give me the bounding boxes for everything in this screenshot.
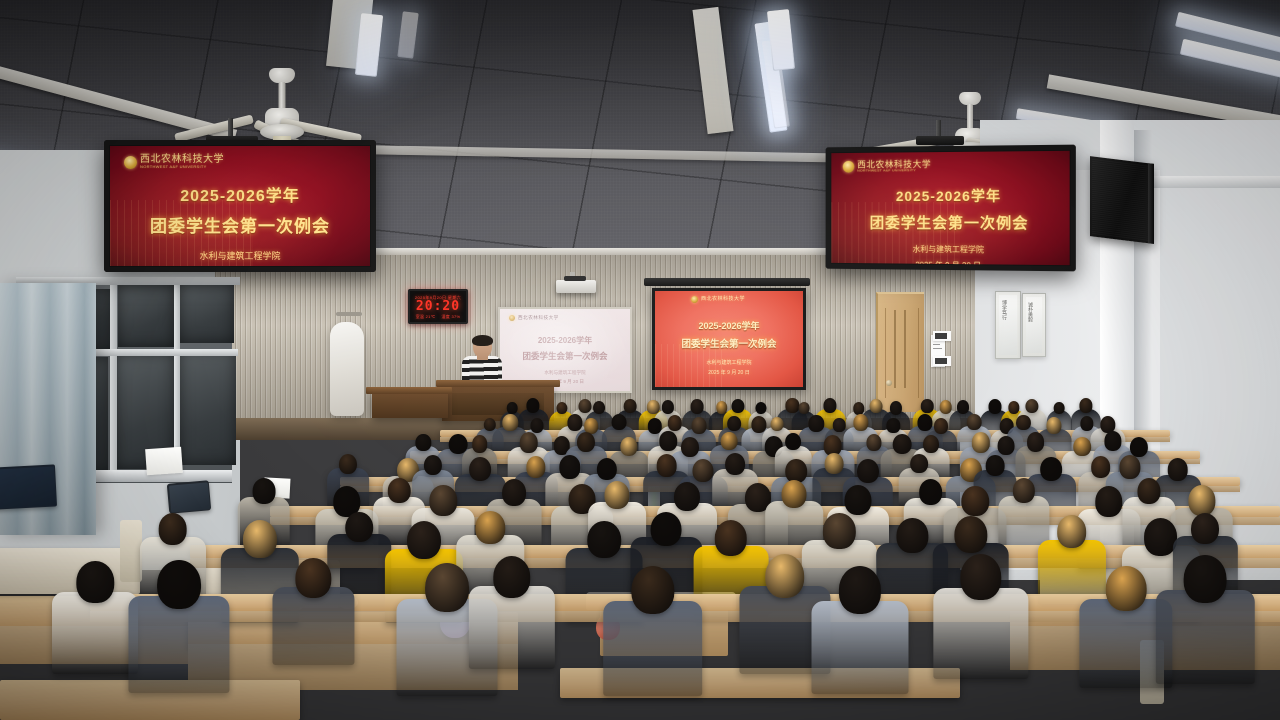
wall-notice-2 bbox=[933, 356, 951, 366]
display-line-college: 水利与建筑工程学院 bbox=[655, 359, 803, 366]
audience-member-head bbox=[823, 513, 855, 549]
audience-member-head bbox=[1025, 399, 1038, 414]
notice-line bbox=[933, 344, 940, 345]
audience-member-head bbox=[934, 418, 948, 434]
audience-member bbox=[273, 558, 354, 671]
audience-member-head bbox=[631, 566, 674, 615]
window-mullion bbox=[174, 283, 180, 471]
ceiling-projector bbox=[556, 280, 596, 293]
audience-member-head bbox=[593, 401, 605, 414]
tv-mount-right bbox=[916, 136, 964, 145]
audience-member-head bbox=[782, 480, 807, 508]
audience-member-head bbox=[252, 478, 275, 504]
right-hanging-display: 西北农林科技大学 NORTHWEST A&F UNIVERSITY 2025-2… bbox=[826, 145, 1076, 272]
window-mullion bbox=[110, 283, 117, 475]
audience-member-head bbox=[1130, 437, 1148, 457]
audience-member-head bbox=[526, 456, 545, 478]
notice-bar bbox=[935, 358, 947, 364]
audience-member-head bbox=[596, 458, 616, 481]
scroll-text: 诚朴勇毅 bbox=[1027, 302, 1032, 322]
fan-canopy bbox=[269, 68, 295, 83]
audience-member-head bbox=[728, 416, 742, 431]
audience-member-torso bbox=[1156, 590, 1254, 684]
audience-member-head bbox=[157, 560, 201, 609]
audience-member-head bbox=[825, 453, 844, 474]
hanging-coat bbox=[330, 322, 364, 416]
scroll-text: 博学笃行 bbox=[1001, 300, 1006, 320]
audience-member-head bbox=[731, 399, 744, 414]
audience-member-head bbox=[243, 520, 277, 558]
led-wall-clock: 2025年9月20日 星期六 20:20 室温 21℃ 湿度 37% bbox=[408, 289, 468, 324]
display-line-meeting-title: 团委学生会第一次例会 bbox=[500, 350, 630, 362]
audience-member-torso bbox=[933, 588, 1028, 679]
audience-member-head bbox=[668, 415, 682, 431]
notice-line bbox=[933, 348, 942, 349]
university-logo: 西北农林科技大学 bbox=[509, 315, 559, 321]
window-pane bbox=[180, 349, 236, 465]
audience-member-head bbox=[587, 521, 621, 559]
window-pane bbox=[118, 285, 174, 347]
audience-member-head bbox=[771, 417, 784, 432]
audience-member-head bbox=[662, 400, 674, 414]
audience-member-head bbox=[556, 402, 567, 415]
university-logo: 西北农林科技大学 bbox=[691, 296, 745, 303]
audience-member-head bbox=[1057, 515, 1087, 548]
audience-member-head bbox=[1074, 437, 1092, 457]
audience-member-head bbox=[693, 459, 714, 483]
audience-member-head bbox=[853, 414, 868, 431]
tablet-device[interactable] bbox=[167, 480, 211, 514]
audience-member-head bbox=[527, 398, 540, 413]
audience-member-head bbox=[911, 454, 929, 474]
audience-member-head bbox=[897, 518, 928, 553]
university-crest-icon bbox=[509, 315, 515, 321]
audience-member-head bbox=[857, 459, 879, 484]
display-bezel bbox=[104, 140, 376, 272]
audience-member-head bbox=[158, 513, 187, 545]
audience-member-torso bbox=[811, 601, 908, 694]
audience-member-torso bbox=[52, 592, 138, 674]
display-line-academic-year: 2025-2026学年 bbox=[500, 335, 630, 346]
audience-member-head bbox=[624, 399, 637, 413]
audience-member-head bbox=[1184, 555, 1227, 603]
audience-member-head bbox=[923, 435, 939, 453]
wall-notice-2 bbox=[933, 331, 951, 341]
audience-member-head bbox=[954, 516, 987, 553]
audience-member-head bbox=[765, 554, 805, 598]
roller-screen-housing bbox=[644, 278, 810, 286]
audience-member-head bbox=[988, 399, 1001, 414]
audience-member-head bbox=[502, 479, 526, 506]
audience-member-head bbox=[674, 482, 700, 511]
paper-sheet bbox=[145, 447, 183, 475]
audience-member-head bbox=[1016, 415, 1030, 431]
wall-scroll-1: 博学笃行 bbox=[995, 291, 1021, 359]
display-line-date: 2025 年 9 月 20 日 bbox=[655, 369, 803, 376]
fan-downrod bbox=[279, 82, 286, 110]
audience-member bbox=[933, 554, 1028, 687]
display-line-college: 水利与建筑工程学院 bbox=[500, 370, 630, 376]
audience-member-torso bbox=[468, 586, 554, 669]
audience-member-head bbox=[957, 400, 969, 413]
audience-member-head bbox=[960, 554, 1001, 600]
audience-member-head bbox=[430, 485, 457, 516]
classroom-door[interactable] bbox=[876, 292, 924, 412]
display-bezel bbox=[826, 145, 1076, 272]
clock-time: 20:20 bbox=[416, 300, 460, 314]
audience-member-head bbox=[476, 511, 505, 544]
audience-member-head bbox=[656, 454, 677, 477]
audience-member-head bbox=[967, 414, 982, 430]
audience-member bbox=[52, 561, 138, 681]
audience-member-head bbox=[1079, 398, 1092, 413]
wall-scroll-2: 诚朴勇毅 bbox=[1022, 293, 1046, 357]
audience-member-head bbox=[559, 455, 580, 479]
display-content: 2025-2026学年 团委学生会第一次例会 水利与建筑工程学院 2025 年 … bbox=[655, 319, 803, 376]
audience-member-head bbox=[1106, 566, 1147, 611]
audience-member-head bbox=[1095, 486, 1123, 517]
notice-bar bbox=[935, 333, 947, 339]
audience-member-torso bbox=[128, 596, 229, 693]
audience-member-head bbox=[845, 485, 872, 515]
audience-member-head bbox=[77, 561, 114, 603]
tablet-screen bbox=[168, 482, 209, 512]
audience-member-head bbox=[839, 566, 881, 613]
side-table bbox=[372, 392, 448, 418]
fan-downrod bbox=[967, 104, 973, 130]
wall-soffit bbox=[1140, 176, 1280, 188]
audience-member-head bbox=[824, 398, 837, 413]
audience-member-head bbox=[424, 455, 442, 475]
audience-member bbox=[1156, 555, 1254, 692]
audience-member-head bbox=[469, 457, 491, 482]
laptop-screen bbox=[0, 466, 55, 508]
audience-member-head bbox=[893, 434, 912, 455]
audience-member-head bbox=[691, 399, 704, 413]
display-content: 2025-2026学年 团委学生会第一次例会 水利与建筑工程学院 2025 年 … bbox=[500, 335, 630, 385]
display-line-academic-year: 2025-2026学年 bbox=[655, 319, 803, 332]
window-pane bbox=[180, 283, 234, 343]
audience-member-head bbox=[604, 481, 629, 509]
clock-temperature: 室温 21℃ bbox=[416, 314, 436, 319]
audience-member-head bbox=[651, 512, 682, 547]
audience-member bbox=[811, 566, 908, 701]
audience-member-head bbox=[1013, 478, 1035, 503]
presenter-hair bbox=[472, 335, 493, 346]
university-crest-icon bbox=[691, 296, 698, 303]
audience-member-head bbox=[986, 455, 1005, 476]
audience-member-head bbox=[961, 486, 988, 517]
audience-member-head bbox=[715, 520, 748, 556]
podium-top bbox=[436, 380, 560, 387]
audience-member-head bbox=[721, 432, 738, 451]
audience-member-head bbox=[1138, 478, 1161, 504]
audience-member bbox=[603, 566, 703, 705]
audience-member-head bbox=[887, 418, 900, 433]
display-line-meeting-title: 团委学生会第一次例会 bbox=[655, 336, 803, 350]
clock-status-row: 室温 21℃ 湿度 37% bbox=[416, 314, 461, 319]
speaker-grill bbox=[1092, 158, 1152, 241]
audience-member-head bbox=[919, 479, 943, 506]
audience-member-head bbox=[1191, 513, 1219, 544]
audience-member-head bbox=[1027, 432, 1045, 452]
audience-member-head bbox=[799, 402, 810, 414]
audience-member-head bbox=[388, 478, 411, 503]
wall-speaker-right bbox=[1090, 156, 1154, 244]
audience-member-head bbox=[345, 512, 373, 543]
audience-member-head bbox=[611, 414, 626, 431]
university-name-cn: 西北农林科技大学 bbox=[701, 297, 745, 302]
table-top bbox=[366, 387, 452, 394]
audience-member-head bbox=[890, 401, 902, 415]
clock-humidity: 湿度 37% bbox=[441, 314, 460, 319]
audience-member-torso bbox=[273, 587, 354, 665]
projector-lens-housing bbox=[564, 276, 586, 281]
laptop-on-desk[interactable] bbox=[0, 464, 57, 509]
left-hanging-display: 西北农林科技大学 NORTHWEST A&F UNIVERSITY 2025-2… bbox=[104, 140, 376, 272]
audience-member-head bbox=[866, 434, 881, 451]
audience-member-head bbox=[577, 432, 595, 452]
audience-member-head bbox=[785, 433, 801, 451]
door-knob[interactable] bbox=[886, 380, 892, 386]
audience-member-head bbox=[503, 414, 518, 431]
audience-member-head bbox=[809, 415, 824, 432]
audience-member-head bbox=[425, 563, 469, 612]
audience-member-head bbox=[1119, 455, 1140, 479]
audience-member-head bbox=[998, 436, 1015, 455]
audience-member-head bbox=[493, 556, 531, 598]
audience-member-head bbox=[1188, 485, 1215, 516]
audience-member-head bbox=[870, 399, 883, 413]
audience-member-head bbox=[339, 454, 357, 474]
audience-member-head bbox=[756, 402, 767, 414]
audience-member-head bbox=[620, 437, 637, 456]
coat-rack bbox=[336, 312, 362, 316]
audience-member bbox=[128, 560, 229, 701]
audience-member-head bbox=[1054, 402, 1065, 414]
audience-member bbox=[469, 556, 555, 676]
door-groove bbox=[904, 310, 906, 388]
lecture-hall-photo: 博学笃行 诚朴勇毅 西北农林科技大学 NORTHWEST bbox=[0, 0, 1280, 720]
audience-member-head bbox=[416, 434, 431, 451]
speaker-edge bbox=[1148, 163, 1154, 244]
audience-member-head bbox=[520, 432, 539, 453]
door-groove bbox=[894, 310, 896, 388]
audience-member-head bbox=[296, 558, 331, 598]
audience-member-head bbox=[507, 402, 518, 414]
front-roller-screen-projection: 西北农林科技大学 2025-2026学年 团委学生会第一次例会 水利与建筑工程学… bbox=[652, 288, 806, 390]
university-name-cn: 西北农林科技大学 bbox=[518, 316, 559, 321]
audience-member-torso bbox=[603, 601, 703, 696]
audience-member-head bbox=[725, 453, 745, 475]
audience-member-head bbox=[407, 521, 441, 559]
audience-member-head bbox=[691, 417, 706, 434]
audience-member-head bbox=[531, 418, 544, 433]
audience-member-head bbox=[472, 435, 488, 453]
